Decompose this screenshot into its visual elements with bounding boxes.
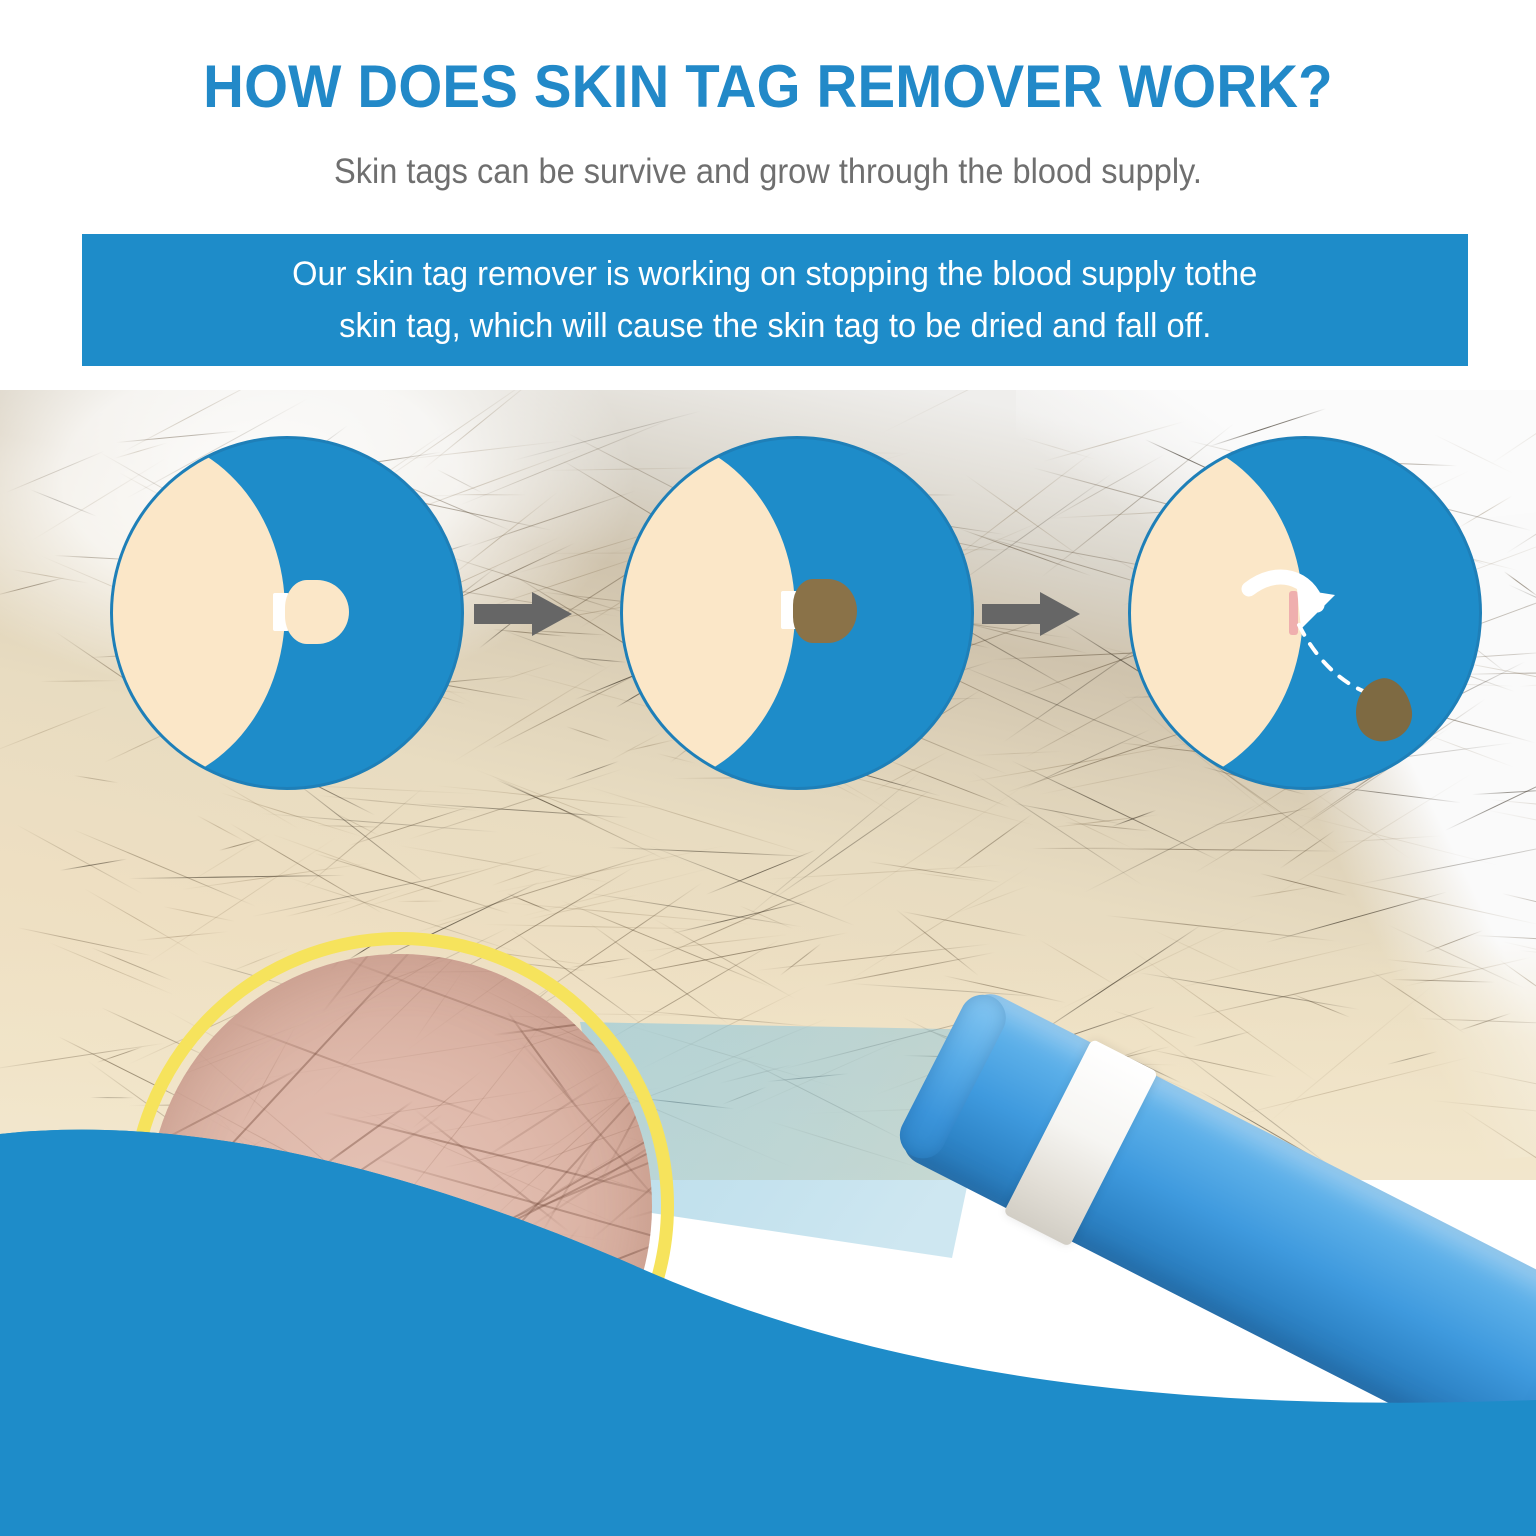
arrow-head [532,592,572,636]
step-arrow-2-icon [982,597,1078,623]
step-1-skin-layer [110,436,285,787]
step-3-fall-path [1131,439,1479,787]
magnifier-ring [126,932,674,1480]
step-2-diagram [620,436,974,790]
infographic-canvas: HOW DOES SKIN TAG REMOVER WORK? Skin tag… [0,0,1536,1536]
arrow-shaft [982,604,1044,624]
step-3-diagram [1128,436,1482,790]
page-title: HOW DOES SKIN TAG REMOVER WORK? [46,52,1490,121]
step-arrow-1-icon [474,597,570,623]
banner-line-2: skin tag, which will cause the skin tag … [339,300,1211,352]
step-1-diagram [110,436,464,790]
explanation-banner: Our skin tag remover is working on stopp… [82,234,1468,366]
arrow-shaft [474,604,536,624]
step-1-skin-tag [285,580,349,644]
arrow-head [1040,592,1080,636]
step-2-skin-layer [620,436,795,787]
page-subtitle: Skin tags can be survive and grow throug… [54,152,1482,192]
banner-line-1: Our skin tag remover is working on stopp… [292,248,1257,300]
step-2-skin-tag-dried [793,579,857,643]
skin-tag-closeup-magnifier [126,932,674,1480]
